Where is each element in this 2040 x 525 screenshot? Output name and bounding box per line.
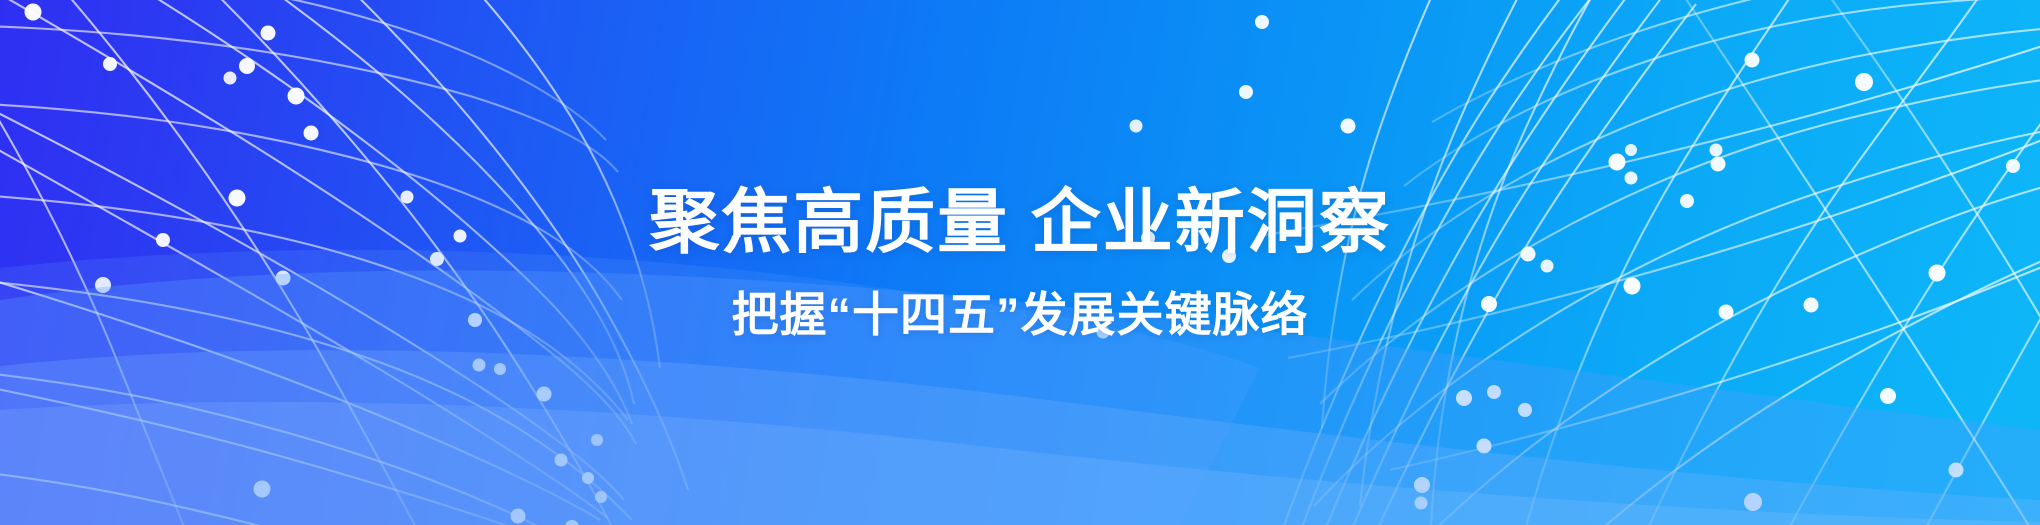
wave-band-left-accent xyxy=(0,250,1260,525)
promo-banner: 聚焦高质量 企业新洞察 把握“十四五”发展关键脉络 xyxy=(0,0,2040,525)
wave-overlay xyxy=(0,0,2040,525)
